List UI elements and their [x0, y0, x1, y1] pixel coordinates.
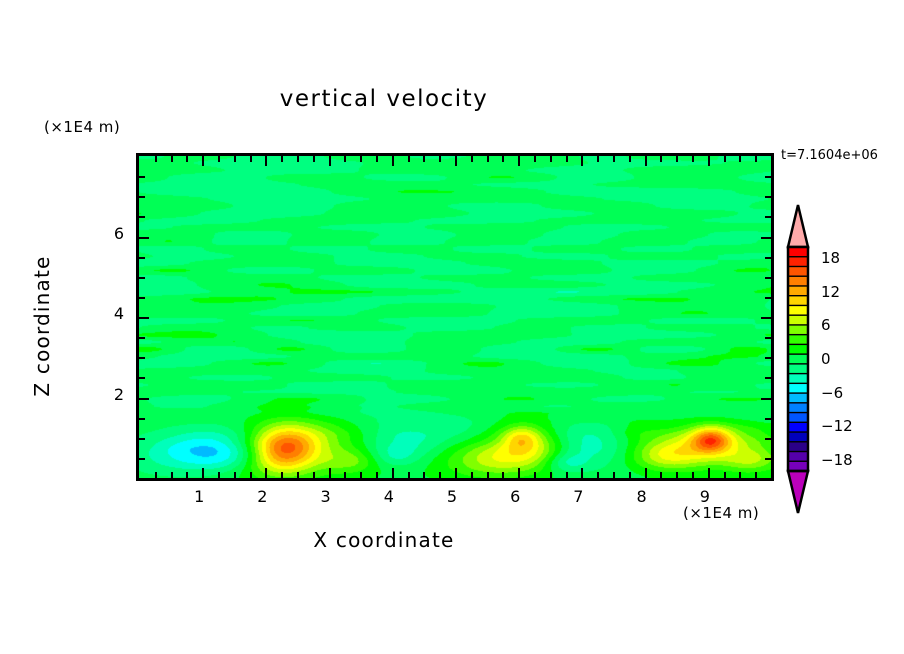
axis-tick-mark [724, 472, 726, 478]
axis-tick-mark [139, 418, 145, 420]
colorbar-cell [788, 393, 808, 403]
axis-tick-mark [439, 472, 441, 478]
colorbar-cell [788, 432, 808, 442]
axis-tick-mark [471, 156, 473, 162]
axis-tick-mark [139, 196, 145, 198]
axis-tick-mark [676, 472, 678, 478]
colorbar-cell [788, 257, 808, 267]
z-tick-label: 2 [94, 385, 124, 404]
axis-tick-mark [518, 156, 520, 166]
axis-tick-mark [761, 398, 771, 400]
axis-tick-mark [313, 156, 315, 162]
z-tick-label: 4 [94, 304, 124, 323]
colorbar-cell [788, 403, 808, 413]
x-tick-label: 5 [437, 487, 467, 506]
axis-tick-mark [297, 156, 299, 162]
axis-tick-mark [376, 472, 378, 478]
x-tick-label: 8 [627, 487, 657, 506]
axis-tick-mark [761, 317, 771, 319]
colorbar-cell [788, 452, 808, 462]
axis-tick-mark [502, 156, 504, 162]
axis-tick-mark [139, 317, 149, 319]
axis-tick-mark [765, 377, 771, 379]
axis-tick-mark [629, 472, 631, 478]
axis-tick-mark [692, 156, 694, 162]
colorbar-cell [788, 442, 808, 452]
x-axis-title: X coordinate [0, 528, 768, 552]
axis-tick-mark [502, 472, 504, 478]
axis-tick-mark [250, 472, 252, 478]
axis-tick-mark [566, 472, 568, 478]
axis-tick-mark [708, 156, 710, 166]
page-title: vertical velocity [0, 86, 768, 112]
axis-tick-mark [597, 472, 599, 478]
axis-tick-mark [471, 472, 473, 478]
contour-field-canvas[interactable] [139, 156, 771, 478]
axis-tick-mark [755, 472, 757, 478]
colorbar-tick-label: 18 [821, 249, 840, 267]
axis-tick-mark [629, 156, 631, 162]
axis-tick-mark [765, 297, 771, 299]
colorbar-cell [788, 413, 808, 423]
axis-tick-mark [765, 176, 771, 178]
axis-tick-mark [139, 357, 145, 359]
axis-tick-mark [765, 458, 771, 460]
axis-tick-mark [550, 156, 552, 162]
axis-tick-mark [645, 156, 647, 166]
colorbar-cell [788, 383, 808, 393]
colorbar-under-arrow [788, 471, 808, 513]
axis-tick-mark [155, 156, 157, 162]
axis-tick-mark [139, 216, 145, 218]
colorbar-cell [788, 344, 808, 354]
axis-tick-mark [613, 156, 615, 162]
axis-tick-mark [581, 468, 583, 478]
axis-tick-mark [234, 472, 236, 478]
colorbar[interactable] [781, 203, 815, 515]
axis-tick-mark [439, 156, 441, 162]
x-tick-label: 2 [247, 487, 277, 506]
colorbar-cell [788, 374, 808, 384]
axis-tick-mark [344, 156, 346, 162]
axis-tick-mark [218, 156, 220, 162]
colorbar-tick-label: −12 [821, 417, 853, 435]
axis-tick-mark [360, 156, 362, 162]
colorbar-tick-label: −6 [821, 384, 843, 402]
axis-tick-mark [765, 196, 771, 198]
axis-tick-mark [218, 472, 220, 478]
x-tick-label: 4 [374, 487, 404, 506]
z-axis-unit-label: (×1E4 m) [44, 118, 120, 136]
axis-tick-mark [265, 468, 267, 478]
axis-tick-mark [139, 297, 145, 299]
axis-tick-mark [281, 472, 283, 478]
axis-tick-mark [139, 398, 149, 400]
axis-tick-mark [139, 277, 145, 279]
contour-plot-area[interactable] [136, 153, 774, 481]
axis-tick-mark [329, 468, 331, 478]
axis-tick-mark [660, 472, 662, 478]
axis-tick-mark [155, 472, 157, 478]
axis-tick-mark [344, 472, 346, 478]
colorbar-cell [788, 276, 808, 286]
axis-tick-mark [581, 156, 583, 166]
x-tick-label: 7 [563, 487, 593, 506]
colorbar-cell [788, 325, 808, 335]
axis-tick-mark [360, 472, 362, 478]
axis-tick-mark [392, 156, 394, 166]
axis-tick-mark [676, 156, 678, 162]
axis-tick-mark [234, 156, 236, 162]
axis-tick-mark [423, 472, 425, 478]
axis-tick-mark [186, 156, 188, 162]
axis-tick-mark [692, 472, 694, 478]
axis-tick-mark [202, 156, 204, 166]
colorbar-cell [788, 364, 808, 374]
axis-tick-mark [281, 156, 283, 162]
axis-tick-mark [139, 458, 145, 460]
axis-tick-mark [534, 156, 536, 162]
axis-tick-mark [408, 472, 410, 478]
axis-tick-mark [613, 472, 615, 478]
colorbar-cell [788, 305, 808, 315]
axis-tick-mark [534, 472, 536, 478]
axis-tick-mark [660, 156, 662, 162]
colorbar-over-arrow [788, 205, 808, 247]
axis-tick-mark [171, 156, 173, 162]
axis-tick-mark [408, 156, 410, 162]
axis-tick-mark [597, 156, 599, 162]
x-tick-label: 1 [184, 487, 214, 506]
axis-tick-mark [186, 472, 188, 478]
axis-tick-mark [487, 472, 489, 478]
colorbar-tick-label: 6 [821, 316, 831, 334]
axis-tick-mark [765, 418, 771, 420]
axis-tick-mark [708, 468, 710, 478]
axis-tick-mark [755, 156, 757, 162]
axis-tick-mark [139, 337, 145, 339]
z-axis-title: Z coordinate [30, 226, 54, 426]
axis-tick-mark [139, 176, 145, 178]
colorbar-cell [788, 286, 808, 296]
axis-tick-mark [645, 468, 647, 478]
colorbar-cell [788, 335, 808, 345]
axis-tick-mark [139, 438, 145, 440]
axis-tick-mark [765, 438, 771, 440]
axis-tick-mark [455, 156, 457, 166]
axis-tick-mark [765, 257, 771, 259]
axis-tick-mark [202, 468, 204, 478]
axis-tick-mark [313, 472, 315, 478]
axis-tick-mark [765, 337, 771, 339]
colorbar-cell [788, 354, 808, 364]
axis-tick-mark [566, 156, 568, 162]
axis-tick-mark [724, 156, 726, 162]
axis-tick-mark [392, 468, 394, 478]
axis-tick-mark [739, 472, 741, 478]
z-tick-label: 6 [94, 224, 124, 243]
axis-tick-mark [455, 468, 457, 478]
axis-tick-mark [139, 377, 145, 379]
colorbar-cell [788, 266, 808, 276]
axis-tick-mark [739, 156, 741, 162]
x-axis-unit-label: (×1E4 m) [683, 504, 759, 522]
x-tick-label: 6 [500, 487, 530, 506]
timestamp-annotation: t=7.1604e+06 [781, 148, 878, 163]
colorbar-cell [788, 315, 808, 325]
colorbar-svg [781, 203, 815, 515]
axis-tick-mark [329, 156, 331, 166]
axis-tick-mark [265, 156, 267, 166]
axis-tick-mark [518, 468, 520, 478]
colorbar-tick-label: 0 [821, 350, 831, 368]
colorbar-tick-label: 12 [821, 283, 840, 301]
colorbar-cell [788, 296, 808, 306]
x-tick-label: 3 [311, 487, 341, 506]
axis-tick-mark [550, 472, 552, 478]
axis-tick-mark [765, 277, 771, 279]
colorbar-cell [788, 247, 808, 257]
axis-tick-mark [423, 156, 425, 162]
axis-tick-mark [139, 257, 145, 259]
colorbar-tick-label: −18 [821, 451, 853, 469]
axis-tick-mark [376, 156, 378, 162]
colorbar-cell [788, 422, 808, 432]
axis-tick-mark [765, 357, 771, 359]
axis-tick-mark [297, 472, 299, 478]
axis-tick-mark [250, 156, 252, 162]
axis-tick-mark [139, 237, 149, 239]
axis-tick-mark [761, 237, 771, 239]
axis-tick-mark [765, 216, 771, 218]
axis-tick-mark [171, 472, 173, 478]
axis-tick-mark [487, 156, 489, 162]
